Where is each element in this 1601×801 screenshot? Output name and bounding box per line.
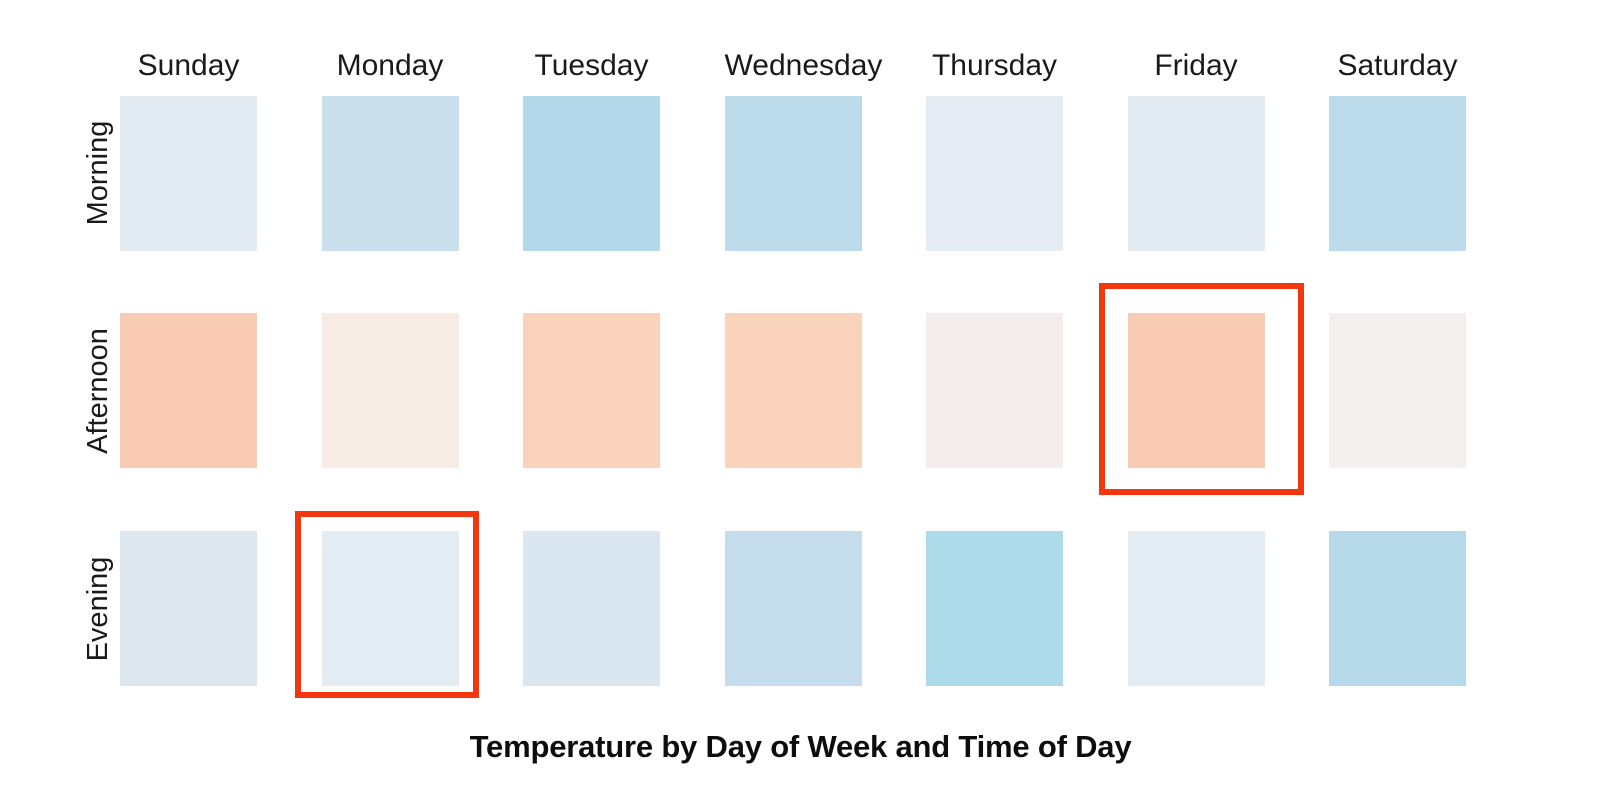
heatmap-cell-morning-thursday[interactable] <box>926 96 1063 251</box>
column-header-friday: Friday <box>1128 46 1265 86</box>
column-header-sunday: Sunday <box>120 46 257 86</box>
heatmap-cell-evening-friday[interactable] <box>1128 531 1265 686</box>
heatmap-cell-morning-saturday[interactable] <box>1329 96 1466 251</box>
heatmap-cell-evening-monday[interactable] <box>322 531 459 686</box>
heatmap-cell-afternoon-saturday[interactable] <box>1329 313 1466 468</box>
heatmap-cell-morning-sunday[interactable] <box>120 96 257 251</box>
column-header-saturday: Saturday <box>1329 46 1466 86</box>
heatmap-cell-afternoon-wednesday[interactable] <box>725 313 862 468</box>
row-label-afternoon: Afternoon <box>81 291 115 491</box>
column-header-wednesday: Wednesday <box>725 46 862 86</box>
heatmap-cell-afternoon-tuesday[interactable] <box>523 313 660 468</box>
row-label-evening: Evening <box>81 509 115 709</box>
heatmap-cell-afternoon-sunday[interactable] <box>120 313 257 468</box>
heatmap-cell-morning-friday[interactable] <box>1128 96 1265 251</box>
row-label-morning: Morning <box>81 73 115 273</box>
heatmap-cell-morning-wednesday[interactable] <box>725 96 862 251</box>
column-header-thursday: Thursday <box>926 46 1063 86</box>
heatmap-cell-evening-tuesday[interactable] <box>523 531 660 686</box>
heatmap-cell-morning-tuesday[interactable] <box>523 96 660 251</box>
heatmap-cell-afternoon-thursday[interactable] <box>926 313 1063 468</box>
chart-title: Temperature by Day of Week and Time of D… <box>0 729 1601 765</box>
heatmap-cell-afternoon-friday[interactable] <box>1128 313 1265 468</box>
heatmap-cell-evening-wednesday[interactable] <box>725 531 862 686</box>
column-header-tuesday: Tuesday <box>523 46 660 86</box>
heatmap-cell-evening-thursday[interactable] <box>926 531 1063 686</box>
column-header-monday: Monday <box>322 46 459 86</box>
heatmap-cell-evening-sunday[interactable] <box>120 531 257 686</box>
heatmap-figure: SundayMondayTuesdayWednesdayThursdayFrid… <box>0 0 1601 801</box>
heatmap-cell-evening-saturday[interactable] <box>1329 531 1466 686</box>
column-header-row: SundayMondayTuesdayWednesdayThursdayFrid… <box>120 46 1475 92</box>
heatmap-cell-morning-monday[interactable] <box>322 96 459 251</box>
heatmap-cell-afternoon-monday[interactable] <box>322 313 459 468</box>
